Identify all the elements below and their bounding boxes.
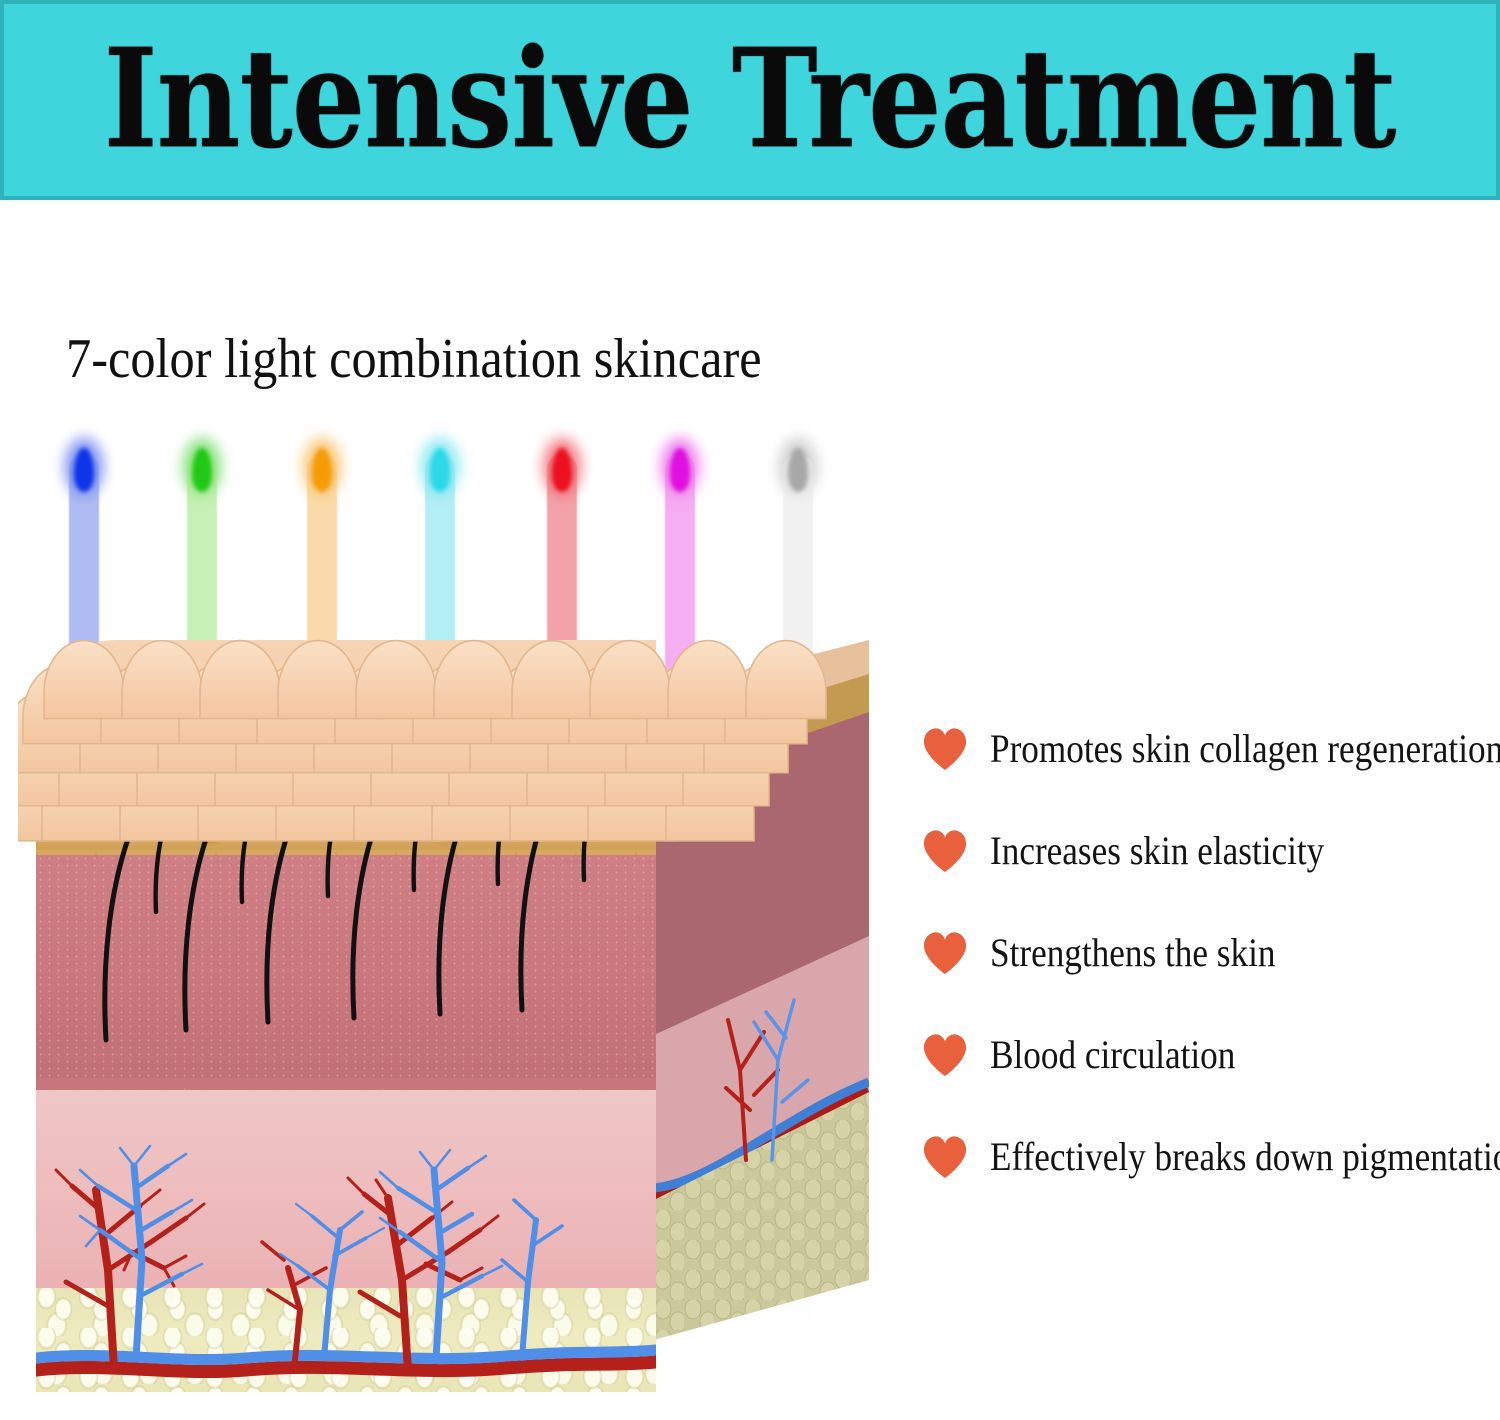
header-banner: Intensive Treatment [0, 0, 1500, 200]
heart-icon [922, 829, 968, 873]
heart-icon [922, 931, 968, 975]
benefits-list: Promotes skin collagen regenerationIncre… [922, 698, 1482, 1208]
benefit-item: Increases skin elasticity [922, 800, 1482, 902]
beam-tip-magenta [670, 448, 690, 492]
benefit-label: Promotes skin collagen regeneration [990, 729, 1500, 769]
beam-tip-amber [312, 448, 332, 492]
benefit-label: Strengthens the skin [990, 933, 1275, 973]
benefit-label: Increases skin elasticity [990, 831, 1324, 871]
beam-tip-blue [74, 448, 94, 492]
skin-cell [725, 664, 807, 744]
skin-cell [683, 723, 769, 806]
benefit-item: Blood circulation [922, 1004, 1482, 1106]
skin-cell [704, 692, 788, 773]
heart-icon [922, 727, 968, 771]
subtitle-heading: 7-color light combination skincare [66, 331, 762, 387]
heart-icon [922, 1033, 968, 1077]
skin-block-front-face [36, 640, 656, 1392]
skin-cell [668, 641, 748, 719]
layer-stratum-corneum [36, 640, 656, 825]
skin-cell [647, 664, 729, 744]
skin-cell [666, 757, 754, 841]
heart-icon [922, 1135, 968, 1179]
skin-block-side-face [654, 640, 869, 1340]
layer-dermis [36, 855, 656, 1100]
infographic-root: Intensive Treatment 7-color light combin… [0, 0, 1500, 1403]
benefit-item: Promotes skin collagen regeneration [922, 698, 1482, 800]
benefit-item: Effectively breaks down pigmentation [922, 1106, 1482, 1208]
skin-cell [746, 641, 826, 719]
benefit-label: Blood circulation [990, 1035, 1235, 1075]
page-title: Intensive Treatment [104, 32, 1396, 168]
beam-tip-green [192, 448, 212, 492]
beam-tip-white [788, 448, 808, 492]
beam-tip-red [552, 448, 572, 492]
beam-tip-cyan [430, 448, 450, 492]
skin-cross-section-diagram [18, 640, 878, 1400]
layer-subcutaneous-fat [36, 1288, 656, 1392]
benefit-label: Effectively breaks down pigmentation [990, 1137, 1500, 1177]
benefit-item: Strengthens the skin [922, 902, 1482, 1004]
